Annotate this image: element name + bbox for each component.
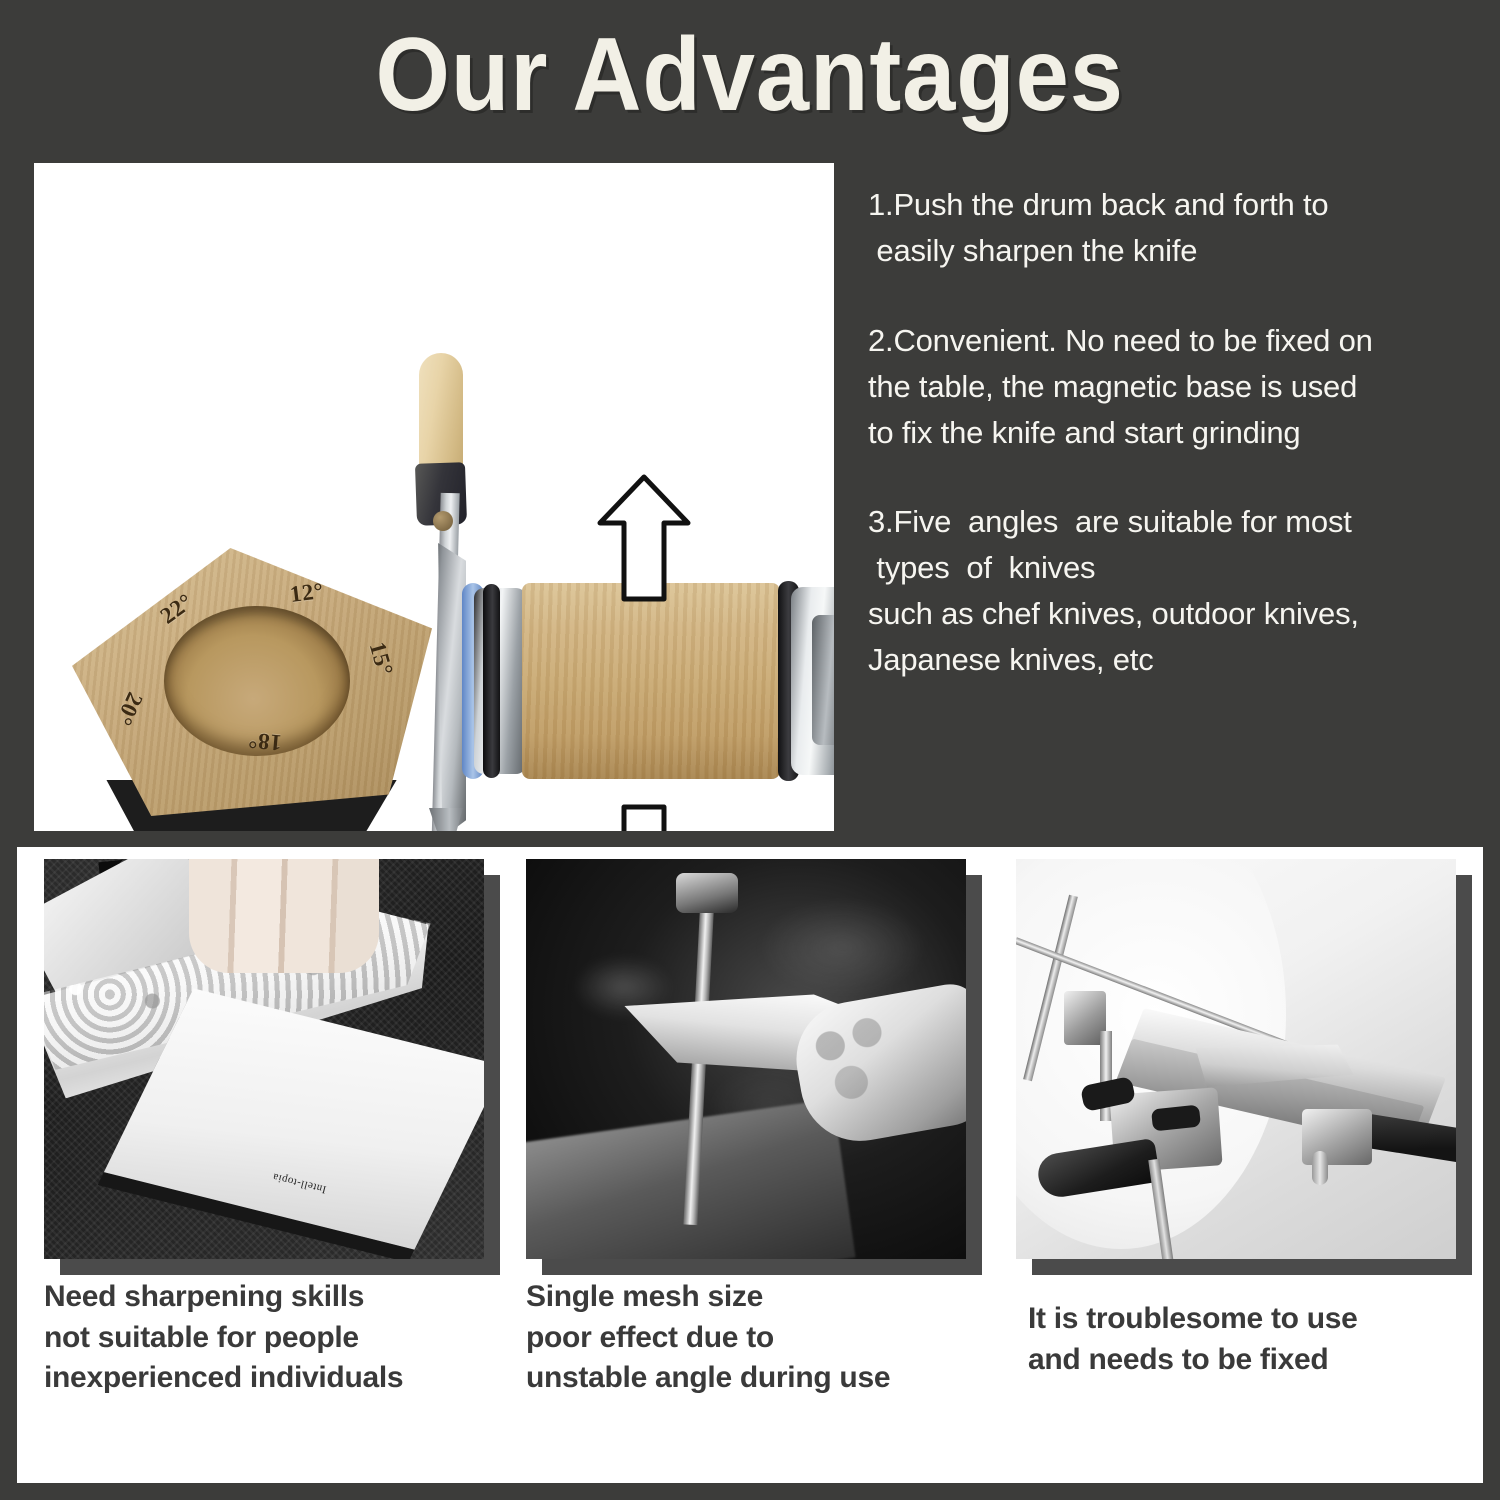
- advantage-2-line-3: to fix the knife and start grinding: [868, 410, 1468, 456]
- caption-1-line-3: inexperienced individuals: [44, 1358, 514, 1399]
- advantage-2-line-2: the table, the magnetic base is used: [868, 364, 1468, 410]
- advantage-1-line-2: easily sharpen the knife: [868, 228, 1468, 274]
- knife-rivet: [433, 511, 453, 531]
- drum-left-cap: [474, 588, 526, 774]
- drum-right-cap-inner: [812, 615, 834, 745]
- caption-1-line-2: not suitable for people: [44, 1318, 514, 1359]
- sharpener-adjust-knob: [1312, 1151, 1328, 1185]
- comparison-caption-3: It is troublesome to use and needs to be…: [1028, 1299, 1498, 1380]
- advantage-3-line-2: types of knives: [868, 545, 1468, 591]
- caption-2-line-2: poor effect due to: [526, 1318, 996, 1359]
- angle-mark-12: 12°: [289, 578, 326, 608]
- drum-left-oring: [483, 584, 500, 778]
- caption-1-line-1: Need sharpening skills: [44, 1277, 514, 1318]
- comparison-item-3: It is troublesome to use and needs to be…: [1002, 847, 1472, 1483]
- honing-rod-photo: [526, 859, 966, 1259]
- hero-product-photo: 12° 15° 18° 20° 22°: [34, 163, 834, 831]
- page-title: Our Advantages: [376, 23, 1124, 127]
- angle-mark-18: 18°: [247, 727, 283, 756]
- down-arrow-icon: [596, 803, 692, 831]
- page-header: Our Advantages: [0, 0, 1500, 150]
- angle-guide-base: 12° 15° 18° 20° 22°: [72, 548, 432, 831]
- drum-wooden-body: [522, 583, 780, 779]
- whetstone-hand-fingers: [189, 859, 379, 973]
- advantage-3-line-4: Japanese knives, etc: [868, 637, 1468, 683]
- advantage-3-line-1: 3.Five angles are suitable for most: [868, 499, 1468, 545]
- advantage-item-2: 2.Convenient. No need to be fixed on the…: [868, 318, 1468, 456]
- whetstone-photo: Intell-topia: [44, 859, 484, 1259]
- comparison-caption-2: Single mesh size poor effect due to unst…: [526, 1277, 996, 1399]
- advantage-3-line-3: such as chef knives, outdoor knives,: [868, 591, 1468, 637]
- comparison-panel: Intell-topia Need sharpening skills not …: [17, 847, 1483, 1483]
- advantage-2-line-1: 2.Convenient. No need to be fixed on: [868, 318, 1468, 364]
- fixed-angle-sharpener-photo: [1016, 859, 1456, 1259]
- comparison-item-1: Intell-topia Need sharpening skills not …: [30, 847, 500, 1483]
- caption-3-line-2: and needs to be fixed: [1028, 1340, 1498, 1381]
- comparison-caption-1: Need sharpening skills not suitable for …: [44, 1277, 514, 1399]
- up-arrow-icon: [596, 473, 692, 603]
- advantage-1-line-1: 1.Push the drum back and forth to: [868, 182, 1468, 228]
- comparison-item-2: Single mesh size poor effect due to unst…: [512, 847, 982, 1483]
- caption-2-line-1: Single mesh size: [526, 1277, 996, 1318]
- advantages-list: 1.Push the drum back and forth to easily…: [868, 182, 1468, 683]
- honing-rod-handle: [676, 873, 738, 913]
- caption-3-line-1: It is troublesome to use: [1028, 1299, 1498, 1340]
- honing-hand-knuckles: [799, 1001, 936, 1130]
- hero-photo-stage: 12° 15° 18° 20° 22°: [34, 163, 834, 831]
- advantage-item-1: 1.Push the drum back and forth to easily…: [868, 182, 1468, 274]
- advantage-item-3: 3.Five angles are suitable for most type…: [868, 499, 1468, 683]
- caption-2-line-3: unstable angle during use: [526, 1358, 996, 1399]
